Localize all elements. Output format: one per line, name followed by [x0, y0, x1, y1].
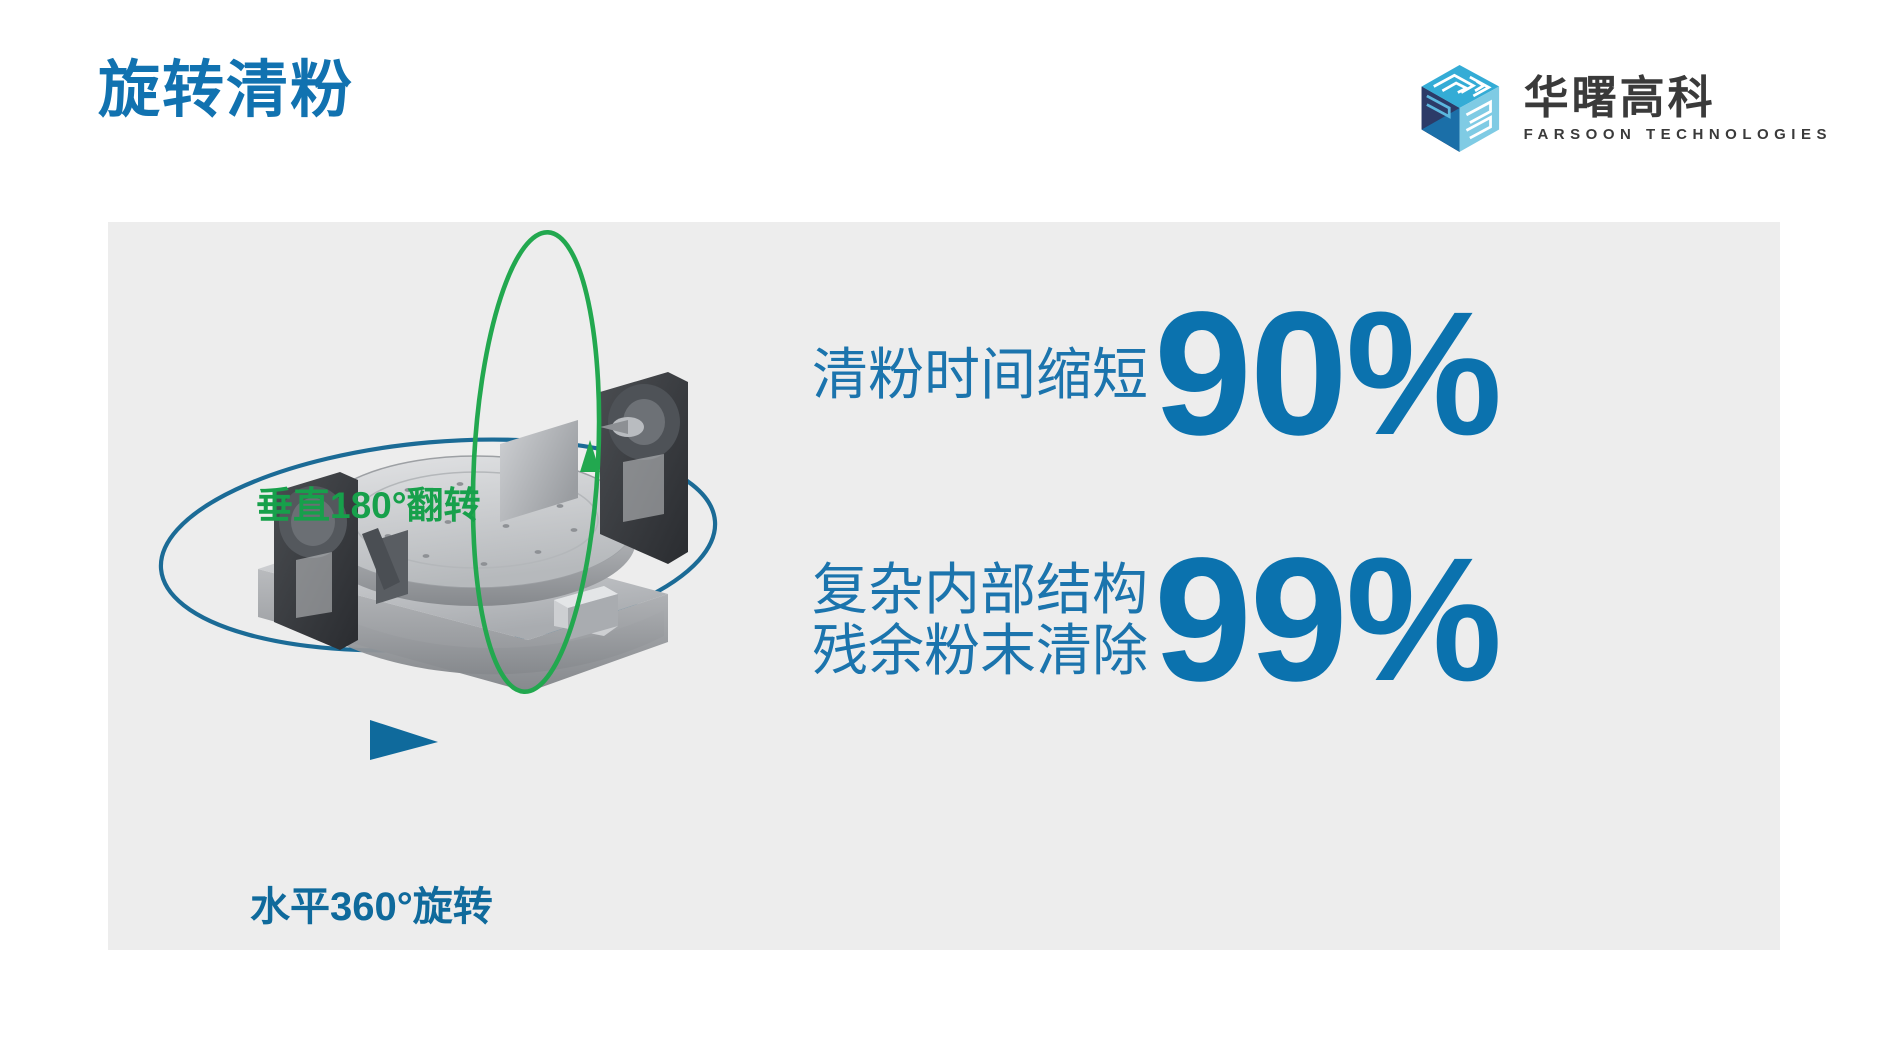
vertical-rotation-label: 垂直180°翻转	[256, 475, 481, 529]
stat-value-2: 99%	[1154, 540, 1540, 702]
stat-item-1: 清粉时间缩短 90%	[718, 294, 1540, 456]
stat-item-2: 复杂内部结构 残余粉末清除 99%	[718, 540, 1540, 702]
stat-label-1: 清粉时间缩短	[718, 345, 1154, 405]
stat-value-1: 90%	[1154, 294, 1540, 456]
stat-label-1-line-1: 清粉时间缩短	[812, 343, 1148, 406]
right-yoke-arm	[600, 372, 688, 564]
stat-label-2-line-2: 残余粉末清除	[718, 621, 1148, 681]
farsoon-hex-cube-logo-icon	[1420, 63, 1506, 153]
logo-name-cn: 华曙高科	[1524, 75, 1832, 120]
horizontal-rotation-label: 水平360°旋转	[250, 874, 493, 932]
brand-logo: 华曙高科 FARSOON TECHNOLOGIES	[1420, 63, 1832, 153]
stat-label-2-line-1: 复杂内部结构	[812, 558, 1148, 621]
slide-root: 旋转清粉	[0, 0, 1890, 1063]
horizontal-rotation-arrowhead	[370, 720, 438, 760]
page-title: 旋转清粉	[98, 58, 354, 123]
stat-label-2: 复杂内部结构 残余粉末清除	[718, 560, 1154, 681]
logo-name-en: FARSOON TECHNOLOGIES	[1524, 127, 1832, 142]
content-panel: 垂直180°翻转 水平360°旋转 清粉时间缩短 90% 复杂内部结构 残余粉末…	[108, 222, 1780, 950]
stats-area: 清粉时间缩短 90% 复杂内部结构 残余粉末清除 99%	[718, 272, 1780, 932]
logo-text-block: 华曙高科 FARSOON TECHNOLOGIES	[1524, 75, 1832, 142]
